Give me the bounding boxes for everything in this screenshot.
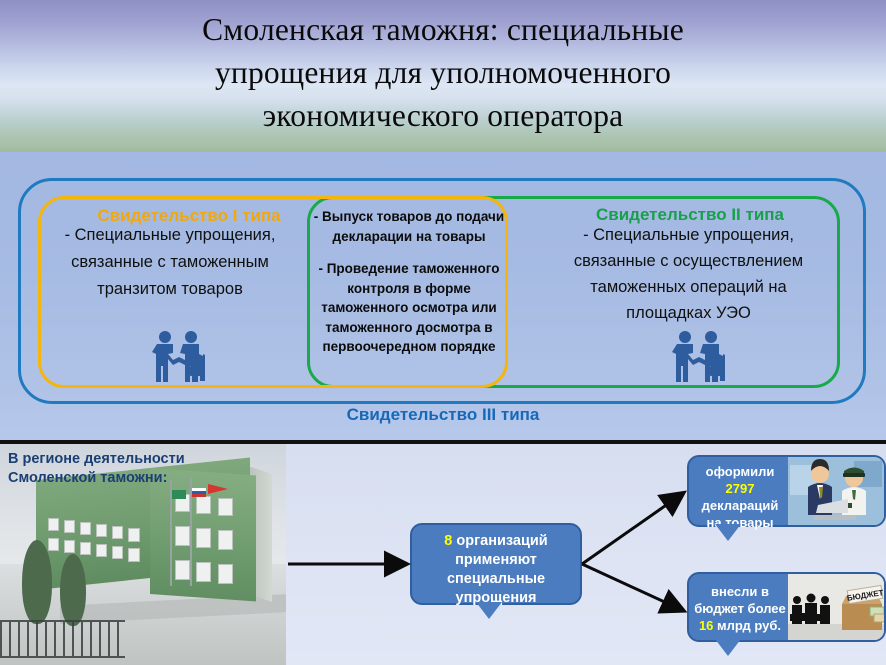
photo-window bbox=[218, 564, 233, 584]
page-title-line3: экономического оператора bbox=[40, 94, 846, 137]
declarations-line1: оформили bbox=[689, 463, 791, 480]
photo-window bbox=[64, 520, 75, 533]
organizations-line3: специальные bbox=[412, 570, 580, 589]
budget-line3: 16 млрд руб. bbox=[689, 617, 791, 634]
cert1-line3: транзитом товаров bbox=[20, 276, 320, 303]
budget-amount: 16 bbox=[699, 618, 713, 633]
photo-window bbox=[48, 518, 59, 531]
photo-window bbox=[175, 560, 190, 580]
list-spacer bbox=[300, 246, 518, 259]
photo-window bbox=[218, 530, 233, 550]
page-title-line2: упрощения для уполномоченного bbox=[40, 51, 846, 94]
cert2-line2: связанные с осуществлением bbox=[516, 248, 861, 274]
photo-window bbox=[218, 498, 233, 516]
photo-caption: В регионе деятельности Смоленской таможн… bbox=[8, 450, 268, 488]
photo-flag bbox=[192, 488, 206, 497]
budget-text: внесли в бюджет более 16 млрд руб. bbox=[689, 583, 791, 634]
photo-window bbox=[112, 526, 123, 539]
shared-item2-line4: таможенного досмотра в bbox=[300, 318, 518, 338]
organizations-callout: 8 организаций применяют специальные упро… bbox=[410, 523, 582, 605]
budget-line1: внесли в bbox=[689, 583, 791, 600]
shared-item1-line1: - Выпуск товаров до подачи bbox=[300, 207, 518, 227]
shared-item1-line2: декларации на товары bbox=[300, 227, 518, 247]
budget-callout: внесли в бюджет более 16 млрд руб. bbox=[687, 572, 886, 642]
photo-window bbox=[175, 526, 190, 546]
photo-window bbox=[96, 524, 107, 537]
budget-bag-illustration: БЮДЖЕТ bbox=[788, 574, 884, 640]
photo-window bbox=[48, 538, 59, 551]
cert2-line1: - Специальные упрощения, bbox=[516, 222, 861, 248]
shared-simplifications-list: - Выпуск товаров до подачи декларации на… bbox=[300, 207, 518, 357]
handshake-icon bbox=[148, 328, 210, 395]
cert2-line3: таможенных операций на bbox=[516, 274, 861, 300]
shared-item2-line5: первоочередном порядке bbox=[300, 337, 518, 357]
budget-amount-unit: млрд руб. bbox=[713, 618, 781, 633]
shared-item2-line3: таможенного осмотра или bbox=[300, 298, 518, 318]
organizations-count-suffix: организаций bbox=[452, 533, 547, 549]
photo-tree bbox=[60, 554, 86, 626]
page-title-line1: Смоленская таможня: специальные bbox=[40, 8, 846, 51]
declarations-line3: деклараций bbox=[689, 497, 791, 514]
callout-tail bbox=[476, 602, 502, 619]
photo-window bbox=[80, 522, 91, 535]
slide-root: Смоленская таможня: специальные упрощени… bbox=[0, 0, 886, 665]
budget-line2: бюджет более bbox=[689, 600, 791, 617]
customs-building-photo: В регионе деятельности Смоленской таможн… bbox=[0, 444, 286, 665]
cert2-line4: площадках УЭО bbox=[516, 300, 861, 326]
shared-item2-line1: - Проведение таможенного bbox=[300, 259, 518, 279]
photo-caption-line2: Смоленской таможни: bbox=[8, 469, 268, 488]
photo-window bbox=[112, 546, 123, 559]
organizations-line2: применяют bbox=[412, 551, 580, 570]
officer-and-businessman-illustration bbox=[788, 457, 884, 525]
cert1-line1: - Специальные упрощения, bbox=[20, 222, 320, 249]
photo-window bbox=[80, 542, 91, 555]
photo-flag bbox=[172, 490, 186, 499]
organizations-line1: 8 организаций bbox=[412, 532, 580, 551]
photo-window bbox=[128, 548, 140, 562]
declarations-count: 2797 bbox=[689, 480, 791, 497]
photo-window bbox=[128, 528, 140, 542]
declarations-callout: оформили 2797 деклараций на товары bbox=[687, 455, 886, 527]
slide-header: Смоленская таможня: специальные упрощени… bbox=[0, 0, 886, 152]
photo-caption-line1: В регионе деятельности bbox=[8, 450, 268, 469]
cert1-line2: связанные с таможенным bbox=[20, 249, 320, 276]
handshake-icon bbox=[668, 328, 730, 395]
callout-tail bbox=[715, 639, 741, 656]
certificate-type1-body: - Специальные упрощения, связанные с там… bbox=[20, 222, 320, 303]
photo-window bbox=[96, 544, 107, 557]
photo-window bbox=[196, 496, 211, 514]
photo-window bbox=[64, 540, 75, 553]
photo-window bbox=[196, 562, 211, 582]
certificate-type2-body: - Специальные упрощения, связанные с осу… bbox=[516, 222, 861, 326]
shared-item2-line2: контроля в форме bbox=[300, 279, 518, 299]
callout-tail bbox=[715, 524, 741, 541]
photo-tree bbox=[22, 540, 52, 624]
declarations-text: оформили 2797 деклараций на товары bbox=[689, 463, 791, 531]
photo-window bbox=[196, 528, 211, 548]
certificates-section: Свидетельство I типа - Специальные упрощ… bbox=[0, 152, 886, 440]
photo-fence bbox=[0, 620, 125, 658]
page-title: Смоленская таможня: специальные упрощени… bbox=[40, 8, 846, 137]
certificate-type3-label: Свидетельство III типа bbox=[0, 405, 886, 425]
